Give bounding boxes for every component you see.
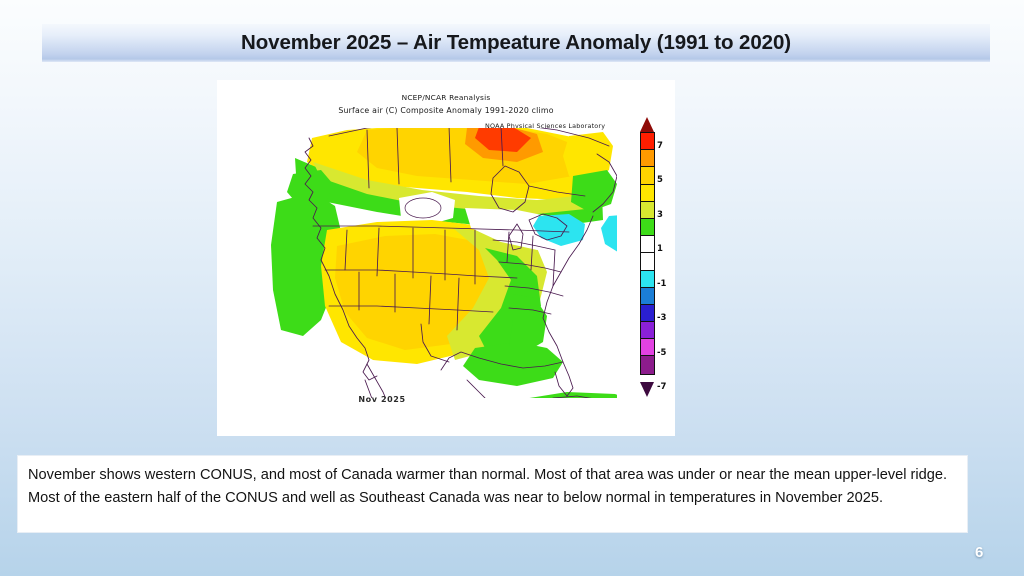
colorbar-tick-neg1: -1 xyxy=(657,280,666,289)
colorbar-band xyxy=(641,133,654,150)
colorbar-tick-neg5: -5 xyxy=(657,349,666,358)
colorbar-band xyxy=(641,150,654,167)
page-title: November 2025 – Air Tempeature Anomaly (… xyxy=(42,26,990,60)
colorbar-band xyxy=(641,322,654,339)
colorbar-tick-neg3: -3 xyxy=(657,314,666,323)
colorbar-bands xyxy=(640,132,655,375)
coastline-hispaniola xyxy=(623,402,645,410)
north-america-anomaly-map xyxy=(217,80,675,436)
colorbar-tick-neg7: -7 xyxy=(657,383,666,392)
caption-textbox: November shows western CONUS, and most o… xyxy=(17,455,968,533)
colorbar-band xyxy=(641,219,654,236)
colorbar-band xyxy=(641,271,654,288)
coastline-baja xyxy=(365,364,389,416)
colorbar-band xyxy=(641,167,654,184)
colorbar-band xyxy=(641,356,654,373)
colorbar-cap-bottom-icon xyxy=(640,382,654,397)
coastline-cuba xyxy=(553,396,617,412)
anomaly-region-green-lower-mississippi xyxy=(509,294,547,354)
slide-number: 6 xyxy=(975,544,983,561)
colorbar-band xyxy=(641,202,654,219)
colorbar-band xyxy=(641,288,654,305)
caption-text: November shows western CONUS, and most o… xyxy=(28,464,959,510)
colorbar-band xyxy=(641,185,654,202)
colorbar-tick-7: 7 xyxy=(657,142,663,151)
figure-date-label: Nov 2025 xyxy=(217,395,547,404)
colorbar-tick-5: 5 xyxy=(657,176,663,185)
colorbar-tick-3: 3 xyxy=(657,211,663,220)
anomaly-region-green-eastern-canada xyxy=(571,170,617,212)
colorbar-band xyxy=(641,305,654,322)
anomaly-colorbar: 7 5 3 1 -1 -3 -5 -7 xyxy=(632,118,674,396)
colorbar-cap-top-icon xyxy=(640,117,654,132)
border-state-east-vertical-3 xyxy=(553,250,555,286)
colorbar-tick-1: 1 xyxy=(657,245,663,254)
anomaly-region-green-gulf-coast xyxy=(463,342,563,386)
colorbar-band xyxy=(641,253,654,270)
colorbar-band xyxy=(641,236,654,253)
presentation-slide: November 2025 – Air Tempeature Anomaly (… xyxy=(0,0,1024,576)
anomaly-map-figure: NCEP/NCAR Reanalysis Surface air (C) Com… xyxy=(217,80,675,436)
inland-lakes xyxy=(405,198,441,218)
colorbar-band xyxy=(641,339,654,356)
